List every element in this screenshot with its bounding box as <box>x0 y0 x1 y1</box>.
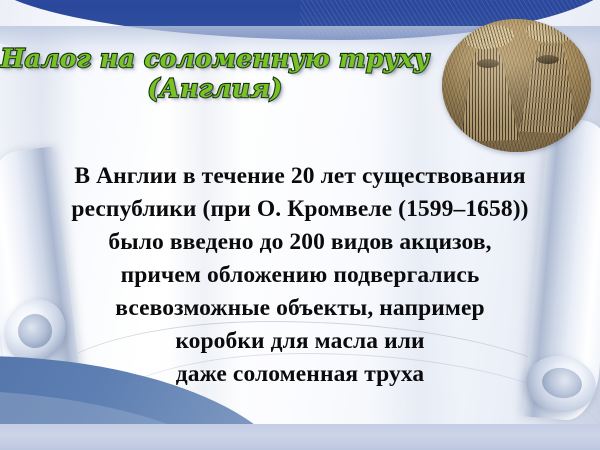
slide-body-text: В Англии в течение 20 лет существования … <box>18 160 582 391</box>
slide-title: Налог на соломенную труху (Англия) <box>0 44 430 104</box>
body-line-2: республики (при О. Кромвеле (1599–1658)) <box>18 193 582 226</box>
body-line-3: было введено до 200 видов акцизов, <box>18 226 582 259</box>
slide-title-line-1: Налог на соломенную труху <box>0 44 430 74</box>
body-line-4: причем обложению подвергались <box>18 259 582 292</box>
photo-vignette <box>442 19 591 152</box>
body-line-6: коробки для масла или <box>18 325 582 358</box>
straw-sheaves-photo <box>442 19 591 152</box>
slide-title-line-2: (Англия) <box>0 74 430 104</box>
body-line-1: В Англии в течение 20 лет существования <box>18 160 582 193</box>
bottom-strip <box>0 424 600 450</box>
bottom-swoosh-highlight <box>0 390 270 450</box>
presentation-slide: Налог на соломенную труху (Англия) В Анг… <box>0 0 600 450</box>
body-line-5: всевозможные объекты, например <box>18 292 582 325</box>
body-line-7: даже соломенная труха <box>18 358 582 391</box>
